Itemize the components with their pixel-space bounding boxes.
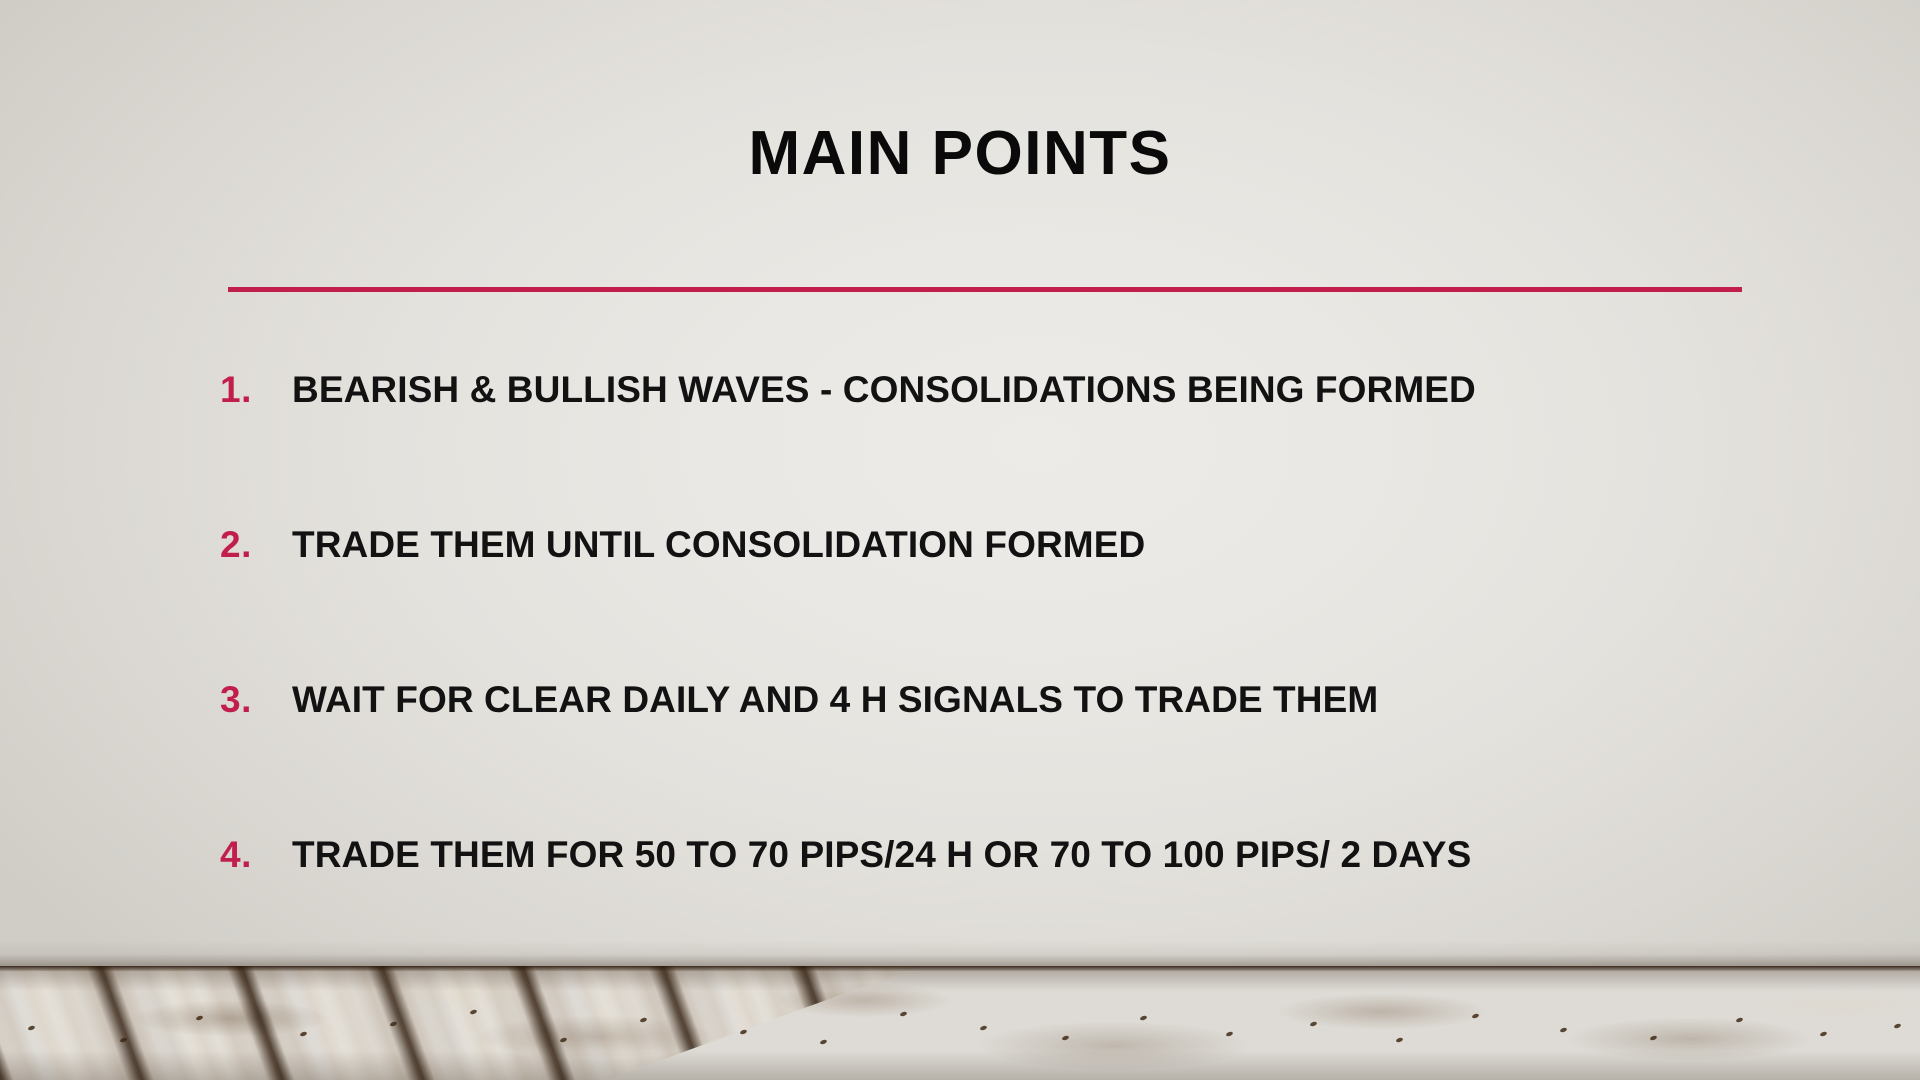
list-item: 3. WAIT FOR CLEAR DAILY AND 4 H SIGNALS …: [0, 678, 1920, 833]
list-item-number: 3.: [220, 678, 280, 722]
main-points-list: 1. BEARISH & BULLISH WAVES - CONSOLIDATI…: [0, 368, 1920, 988]
slide-title: MAIN POINTS: [0, 123, 1920, 185]
list-item-text: WAIT FOR CLEAR DAILY AND 4 H SIGNALS TO …: [292, 678, 1378, 722]
list-item-text: TRADE THEM FOR 50 TO 70 PIPS/24 H OR 70 …: [292, 833, 1471, 877]
list-item-number: 2.: [220, 523, 280, 567]
list-item-number: 1.: [220, 368, 280, 412]
presentation-slide: MAIN POINTS 1. BEARISH & BULLISH WAVES -…: [0, 0, 1920, 1080]
list-item: 4. TRADE THEM FOR 50 TO 70 PIPS/24 H OR …: [0, 833, 1920, 988]
list-item-text: TRADE THEM UNTIL CONSOLIDATION FORMED: [292, 523, 1145, 567]
list-item-number: 4.: [220, 833, 280, 877]
list-item-text: BEARISH & BULLISH WAVES - CONSOLIDATIONS…: [292, 368, 1476, 412]
list-item: 1. BEARISH & BULLISH WAVES - CONSOLIDATI…: [0, 368, 1920, 523]
list-item: 2. TRADE THEM UNTIL CONSOLIDATION FORMED: [0, 523, 1920, 678]
accent-divider: [228, 287, 1742, 292]
